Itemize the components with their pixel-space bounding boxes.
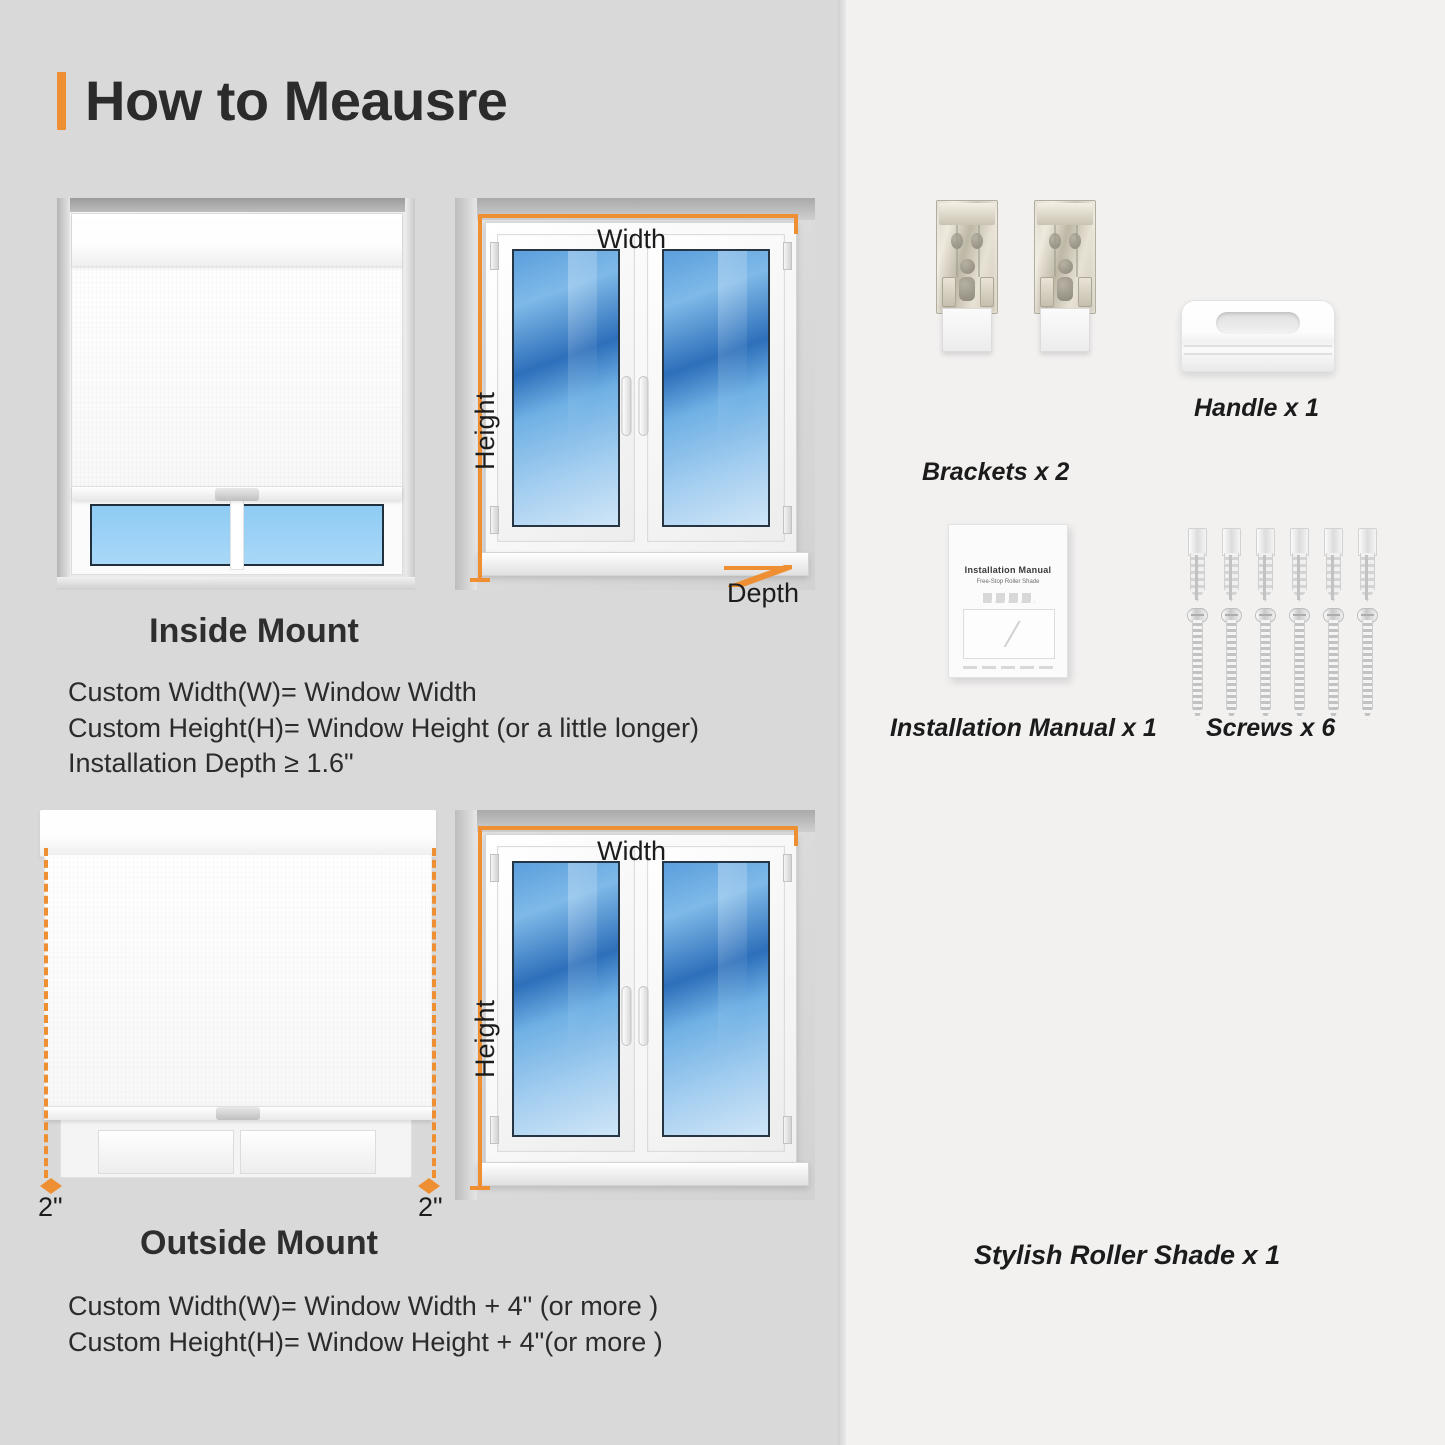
overhang-label-left: 2"	[38, 1192, 63, 1223]
label-depth-inside: Depth	[727, 578, 799, 609]
outside-mount-text-block: Outside Mount Custom Width(W)= Window Wi…	[0, 1224, 838, 1360]
outside-mount-line-1: Custom Width(W)= Window Width + 4" (or m…	[68, 1289, 838, 1325]
depth-measure-line	[724, 566, 788, 570]
width-cap-right-outside	[794, 826, 798, 846]
package-contents-panel: What's in the package	[846, 0, 1445, 1445]
anchor-fin	[1195, 555, 1198, 600]
screws-label: Screws x 6	[1206, 714, 1335, 743]
anchor-head	[1256, 528, 1275, 556]
bracket-slot-left	[1040, 277, 1054, 307]
bracket-slot-left	[942, 277, 956, 307]
window-hinge-bottom-right	[783, 506, 792, 534]
bracket-crease-right	[978, 225, 980, 277]
window-hinge-bottom-left	[490, 506, 499, 534]
bracket-crease-left	[956, 225, 958, 277]
window-sash-left	[497, 234, 635, 542]
bracket-icon	[1034, 200, 1094, 350]
bracket-slot-right	[980, 277, 994, 307]
handle-ridge-1	[1184, 345, 1332, 347]
label-height-inside: Height	[470, 392, 501, 470]
accent-bar-icon	[57, 72, 66, 130]
anchor-fin	[1365, 555, 1368, 600]
left-heading-text: How to Meausre	[85, 73, 507, 129]
bracket-hole-2	[971, 233, 983, 249]
handle-grip-slot	[1216, 312, 1300, 334]
window-hinge-top-left	[490, 242, 499, 270]
label-height-outside: Height	[470, 1000, 501, 1078]
window-handle-right	[639, 986, 649, 1046]
outside-glass-left	[98, 1130, 234, 1174]
wall-anchor-icon	[1186, 528, 1207, 602]
frame-top-edge	[57, 198, 415, 212]
width-measure-line	[478, 214, 798, 218]
wall-anchor-icon	[1254, 528, 1275, 602]
manual-cover-figure	[991, 621, 1035, 647]
bracket-crease-right	[1076, 225, 1078, 277]
manual-cover-footer	[963, 666, 1053, 669]
window-glass-right	[662, 861, 770, 1137]
wall-anchor-icon	[1322, 528, 1343, 602]
wall-anchor-icon	[1288, 528, 1309, 602]
screw-shaft	[1328, 620, 1339, 720]
panel-divider	[838, 0, 846, 1445]
manual-cover-scribble	[983, 593, 1035, 603]
window-glass-left	[512, 249, 620, 527]
window-sill	[477, 1162, 809, 1186]
bracket-mount-tab	[1040, 308, 1090, 352]
anchor-head	[1324, 528, 1343, 556]
bracket-hole-3	[960, 259, 975, 274]
screw-shaft	[1260, 620, 1271, 720]
window-hinge-bottom-left	[490, 1116, 499, 1144]
height-cap-bottom-outside	[470, 1186, 490, 1190]
anchor-fin	[1229, 555, 1232, 600]
window-glass-right	[662, 249, 770, 527]
overhang-dash-left	[44, 848, 48, 1178]
manual-icon: Installation Manual Free-Stop Roller Sha…	[948, 524, 1068, 678]
screw-shaft	[1192, 620, 1203, 720]
screw-icon	[1187, 608, 1206, 720]
screw-shaft	[1226, 620, 1237, 720]
screw-shaft	[1362, 620, 1373, 720]
left-panel-heading: How to Meausre	[57, 72, 507, 130]
inside-mount-line-2: Custom Height(H)= Window Height (or a li…	[68, 711, 838, 747]
inside-mount-shade-illustration	[57, 198, 415, 590]
bracket-center-opening	[959, 277, 975, 301]
window-glass-left	[512, 861, 620, 1137]
window-sash-right	[647, 846, 785, 1152]
wall-anchor-icon	[1220, 528, 1241, 602]
outside-mount-lines: Custom Width(W)= Window Width + 4" (or m…	[68, 1289, 838, 1360]
inside-mount-line-1: Custom Width(W)= Window Width	[68, 675, 838, 711]
outside-shade-pull-handle	[216, 1107, 260, 1120]
height-cap-bottom	[470, 578, 490, 582]
center-sash	[230, 494, 244, 570]
window-hinge-top-left	[490, 854, 499, 882]
handle-ridge-2	[1184, 353, 1332, 355]
wall-anchor-icon	[1356, 528, 1377, 602]
handle-icon	[1181, 300, 1335, 372]
bracket-mount-tab	[942, 308, 992, 352]
anchor-fin	[1331, 555, 1334, 600]
outside-mount-shade-illustration	[38, 810, 438, 1200]
screw-icon	[1323, 608, 1342, 720]
bracket-icon	[936, 200, 996, 350]
window-hinge-top-right	[783, 854, 792, 882]
screw-icon	[1289, 608, 1308, 720]
outside-glass-row	[98, 1130, 376, 1174]
frame-bottom-edge	[57, 577, 415, 590]
infographic-page: How to Meausre	[0, 0, 1445, 1445]
inside-mount-title: Inside Mount	[0, 612, 838, 651]
screw-icon	[1357, 608, 1376, 720]
outside-shade-bottom-rail	[44, 1106, 432, 1120]
anchor-fin	[1297, 555, 1300, 600]
window-sash-right	[647, 234, 785, 542]
bracket-top-flange	[1037, 203, 1093, 225]
bracket-center-opening	[1057, 277, 1073, 301]
screw-icon	[1221, 608, 1240, 720]
window-handle-left	[622, 376, 632, 436]
glass-pane-left	[90, 504, 234, 566]
outside-mount-dimension-window	[455, 810, 815, 1200]
anchor-head	[1188, 528, 1207, 556]
window-handle-right	[639, 376, 649, 436]
outside-shade-fabric	[44, 854, 432, 1114]
bracket-slot-right	[1078, 277, 1092, 307]
window-handle-left	[622, 986, 632, 1046]
outside-glass-right	[240, 1130, 376, 1174]
window-opening	[71, 213, 403, 575]
glass-pane-right	[240, 504, 384, 566]
shade-pull-handle	[215, 488, 259, 501]
window-hinge-top-right	[783, 242, 792, 270]
window-handles	[622, 376, 649, 436]
bracket-crease-left	[1054, 225, 1056, 277]
window-hinge-bottom-right	[783, 1116, 792, 1144]
overhang-label-right: 2"	[418, 1192, 443, 1223]
bracket-body	[1034, 200, 1096, 314]
manual-label: Installation Manual x 1	[890, 714, 1157, 743]
manual-cover-title: Installation Manual	[959, 565, 1057, 575]
handle-label: Handle x 1	[1194, 394, 1319, 423]
outside-mount-title: Outside Mount	[0, 1224, 838, 1263]
bracket-top-flange	[939, 203, 995, 225]
inside-mount-text-block: Inside Mount Custom Width(W)= Window Wid…	[0, 612, 838, 782]
inside-mount-line-3: Installation Depth ≥ 1.6"	[68, 746, 838, 782]
window-sash-left	[497, 846, 635, 1152]
screw-shaft	[1294, 620, 1305, 720]
bracket-body	[936, 200, 998, 314]
how-to-measure-panel: How to Meausre	[0, 0, 838, 1445]
shade-valance	[72, 214, 402, 267]
brackets-label: Brackets x 2	[922, 458, 1069, 487]
inside-mount-dimension-window	[455, 198, 815, 590]
outside-shade-valance	[40, 810, 436, 857]
overhang-dash-right	[432, 848, 436, 1178]
width-measure-line-outside	[478, 826, 798, 830]
screw-icon	[1255, 608, 1274, 720]
label-width-inside: Width	[597, 224, 666, 255]
window-handles	[622, 986, 649, 1046]
inside-mount-lines: Custom Width(W)= Window Width Custom Hei…	[68, 675, 838, 782]
anchor-head	[1290, 528, 1309, 556]
manual-cover-subtitle: Free-Stop Roller Shade	[959, 579, 1057, 585]
shade-fabric	[72, 264, 402, 498]
outside-mount-line-2: Custom Height(H)= Window Height + 4"(or …	[68, 1325, 838, 1361]
label-width-outside: Width	[597, 836, 666, 867]
bracket-hole-2	[1069, 233, 1081, 249]
width-cap-right	[794, 214, 798, 234]
frame-right-edge	[405, 198, 415, 590]
anchor-fin	[1263, 555, 1266, 600]
anchor-head	[1222, 528, 1241, 556]
shade-bottom-rail	[72, 486, 402, 500]
anchor-head	[1358, 528, 1377, 556]
bracket-hole-3	[1058, 259, 1073, 274]
frame-left-edge	[57, 198, 70, 590]
roller-shade-label: Stylish Roller Shade x 1	[974, 1240, 1280, 1271]
